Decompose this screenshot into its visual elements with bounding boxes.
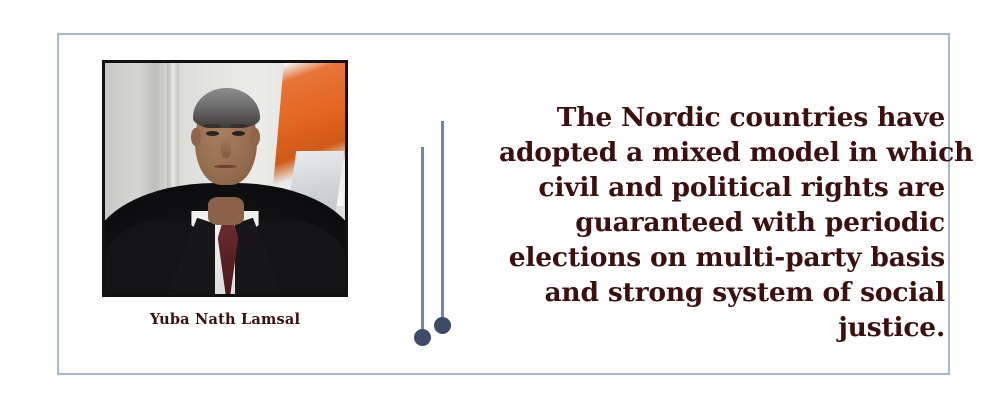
pin-dot-icon <box>434 317 451 334</box>
portrait-photo <box>102 60 348 297</box>
quote-line: elections on multi-party basis <box>499 240 945 275</box>
photo-ear-right <box>250 128 260 146</box>
quote-line: civil and political rights are <box>499 170 945 205</box>
pin-dot-icon <box>414 329 431 346</box>
portrait-block: Yuba Nath Lamsal <box>102 60 348 328</box>
photo-nose <box>221 137 231 158</box>
quote-text: The Nordic countries have adopted a mixe… <box>499 100 945 345</box>
photo-neck <box>208 197 244 225</box>
pin-decoration <box>414 75 484 360</box>
quote-card: Yuba Nath Lamsal The Nordic countries ha… <box>57 33 950 375</box>
pin-line-icon <box>421 147 424 333</box>
quote-line: guaranteed with periodic <box>499 205 945 240</box>
quote-line: adopted a mixed model in which <box>499 135 945 170</box>
quote-line: and strong system of social <box>499 275 945 310</box>
pin-line-icon <box>441 121 444 321</box>
portrait-caption: Yuba Nath Lamsal <box>102 311 348 328</box>
quote-line: The Nordic countries have <box>499 100 945 135</box>
quote-line: justice. <box>499 310 945 345</box>
photo-ear-left <box>191 128 201 146</box>
